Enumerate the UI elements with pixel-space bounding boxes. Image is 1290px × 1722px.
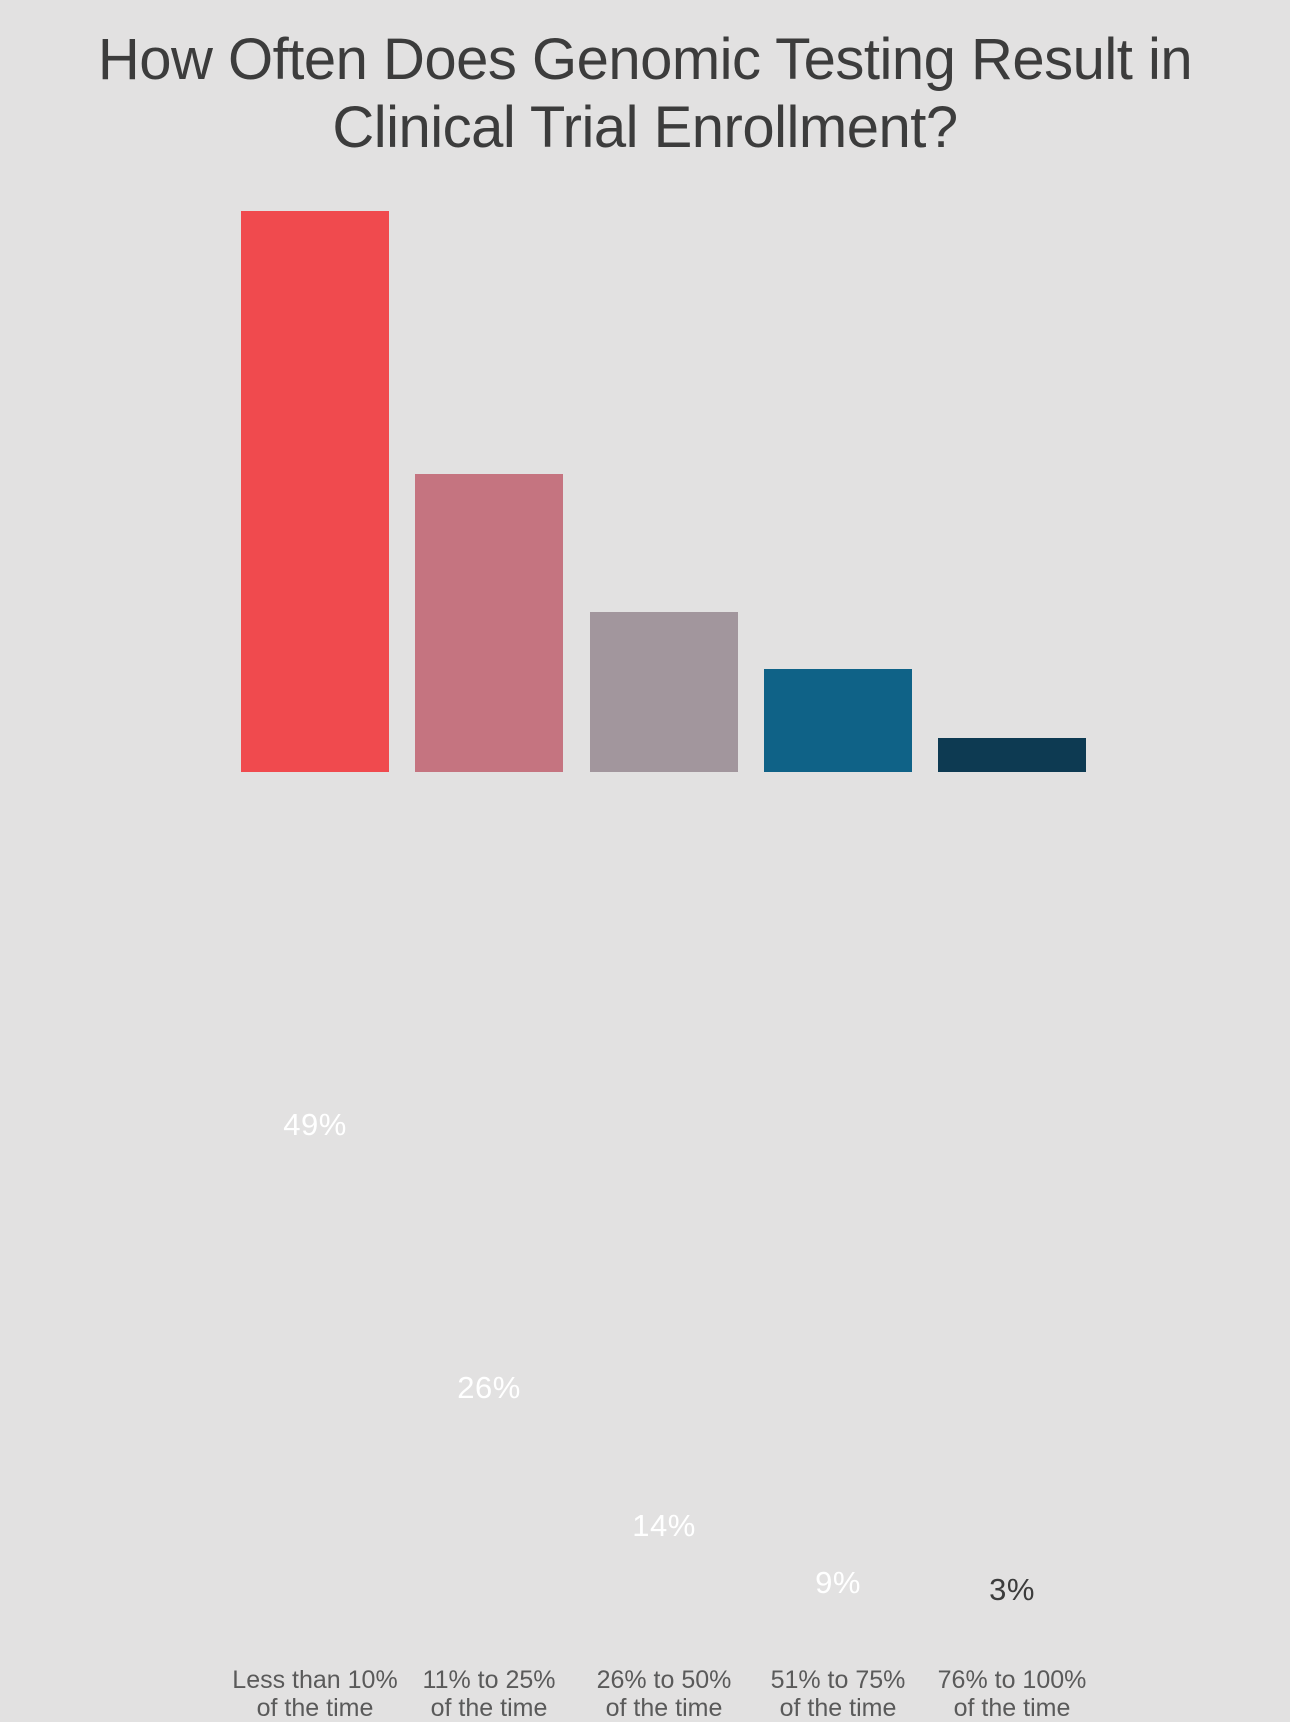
bar-1[interactable] [415, 474, 563, 772]
bar-value-2: 14% [590, 1508, 738, 1544]
plot-area: 49% Less than 10% of the time 26% 11% to… [0, 0, 1290, 878]
bar-label-0: Less than 10% of the time [229, 1666, 401, 1722]
bar-4[interactable] [938, 738, 1086, 772]
bar-label-2: 26% to 50% of the time [578, 1666, 750, 1722]
bar-value-4: 3% [938, 1572, 1086, 1608]
bar-label-1: 11% to 25% of the time [403, 1666, 575, 1722]
bar-label-4: 76% to 100% of the time [926, 1666, 1098, 1722]
bar-chart: How Often Does Genomic Testing Result in… [0, 0, 1290, 878]
bar-value-0: 49% [241, 1107, 389, 1143]
bar-3[interactable] [764, 669, 912, 772]
bar-value-1: 26% [415, 1370, 563, 1406]
bar-label-3: 51% to 75% of the time [752, 1666, 924, 1722]
bar-2[interactable] [590, 612, 738, 772]
bar-0[interactable] [241, 211, 389, 772]
bar-value-3: 9% [764, 1565, 912, 1601]
